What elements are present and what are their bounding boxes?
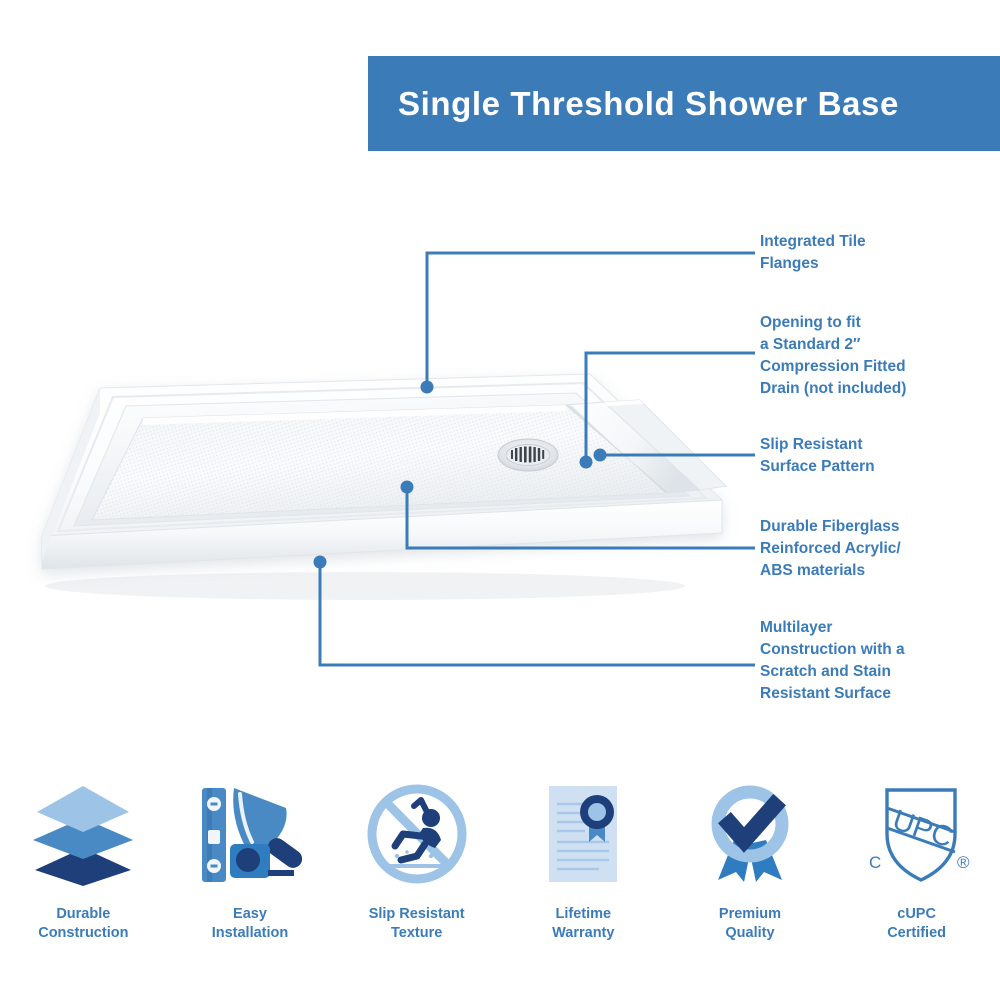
callout-line: ABS materials (760, 560, 975, 582)
callout-line: Durable Fiberglass (760, 516, 975, 538)
drain-grate (498, 439, 558, 471)
feature-label-line: Easy (212, 905, 289, 924)
callout-durable-materials: Durable Fiberglass Reinforced Acrylic/ A… (760, 516, 975, 582)
callout-multilayer-construction: Multilayer Construction with a Scratch a… (760, 617, 975, 705)
callout-line: Compression Fitted (760, 356, 975, 378)
cupc-shield-icon: UPC C ® (854, 775, 979, 893)
registered-mark: ® (957, 853, 970, 872)
cupc-text: UPC (888, 804, 956, 854)
callout-line: Surface Pattern (760, 456, 975, 478)
feature-label: Premium Quality (719, 905, 781, 943)
feature-label: cUPC Certified (887, 905, 946, 943)
page-title: Single Threshold Shower Base (398, 85, 899, 123)
feature-label-line: Texture (369, 924, 465, 943)
callout-line: Construction with a (760, 639, 975, 661)
feature-badges-row: Durable Construction (0, 775, 1000, 980)
certificate-ribbon-icon (521, 775, 646, 893)
callout-line: Integrated Tile (760, 231, 975, 253)
callout-line: Opening to fit (760, 312, 975, 334)
feature-label-line: Installation (212, 924, 289, 943)
feature-label-line: Lifetime (552, 905, 614, 924)
callout-line: Reinforced Acrylic/ (760, 538, 975, 560)
feature-label-line: Warranty (552, 924, 614, 943)
cupc-prefix: C (869, 853, 881, 872)
title-banner: Single Threshold Shower Base (368, 56, 1000, 151)
callout-line: Flanges (760, 253, 975, 275)
feature-durable-construction: Durable Construction (3, 775, 163, 943)
product-illustration (0, 350, 760, 610)
callout-integrated-tile-flanges: Integrated Tile Flanges (760, 231, 975, 275)
callout-line: Slip Resistant (760, 434, 975, 456)
shower-base-drawing (0, 350, 760, 610)
callout-line: Resistant Surface (760, 683, 975, 705)
feature-label: Easy Installation (212, 905, 289, 943)
feature-cupc-certified: UPC C ® cUPC Certified (837, 775, 997, 943)
feature-label-line: cUPC (887, 905, 946, 924)
feature-label: Slip Resistant Texture (369, 905, 465, 943)
callout-line: Scratch and Stain (760, 661, 975, 683)
no-slip-icon (354, 775, 479, 893)
quality-rosette-icon (687, 775, 812, 893)
feature-label-line: Construction (38, 924, 128, 943)
feature-premium-quality: Premium Quality (670, 775, 830, 943)
feature-label-line: Premium (719, 905, 781, 924)
callout-line: a Standard 2″ (760, 334, 975, 356)
feature-easy-installation: Easy Installation (170, 775, 330, 943)
callout-drain-opening: Opening to fit a Standard 2″ Compression… (760, 312, 975, 400)
feature-label: Durable Construction (38, 905, 128, 943)
feature-slip-resistant-texture: Slip Resistant Texture (337, 775, 497, 943)
feature-label-line: Slip Resistant (369, 905, 465, 924)
feature-lifetime-warranty: Lifetime Warranty (503, 775, 663, 943)
callout-line: Multilayer (760, 617, 975, 639)
callout-slip-resistant-surface: Slip Resistant Surface Pattern (760, 434, 975, 478)
feature-label-line: Certified (887, 924, 946, 943)
feature-label-line: Durable (38, 905, 128, 924)
level-and-trowel-icon (187, 775, 312, 893)
feature-label-line: Quality (719, 924, 781, 943)
callout-line: Drain (not included) (760, 378, 975, 400)
layers-stack-icon (21, 775, 146, 893)
feature-label: Lifetime Warranty (552, 905, 614, 943)
